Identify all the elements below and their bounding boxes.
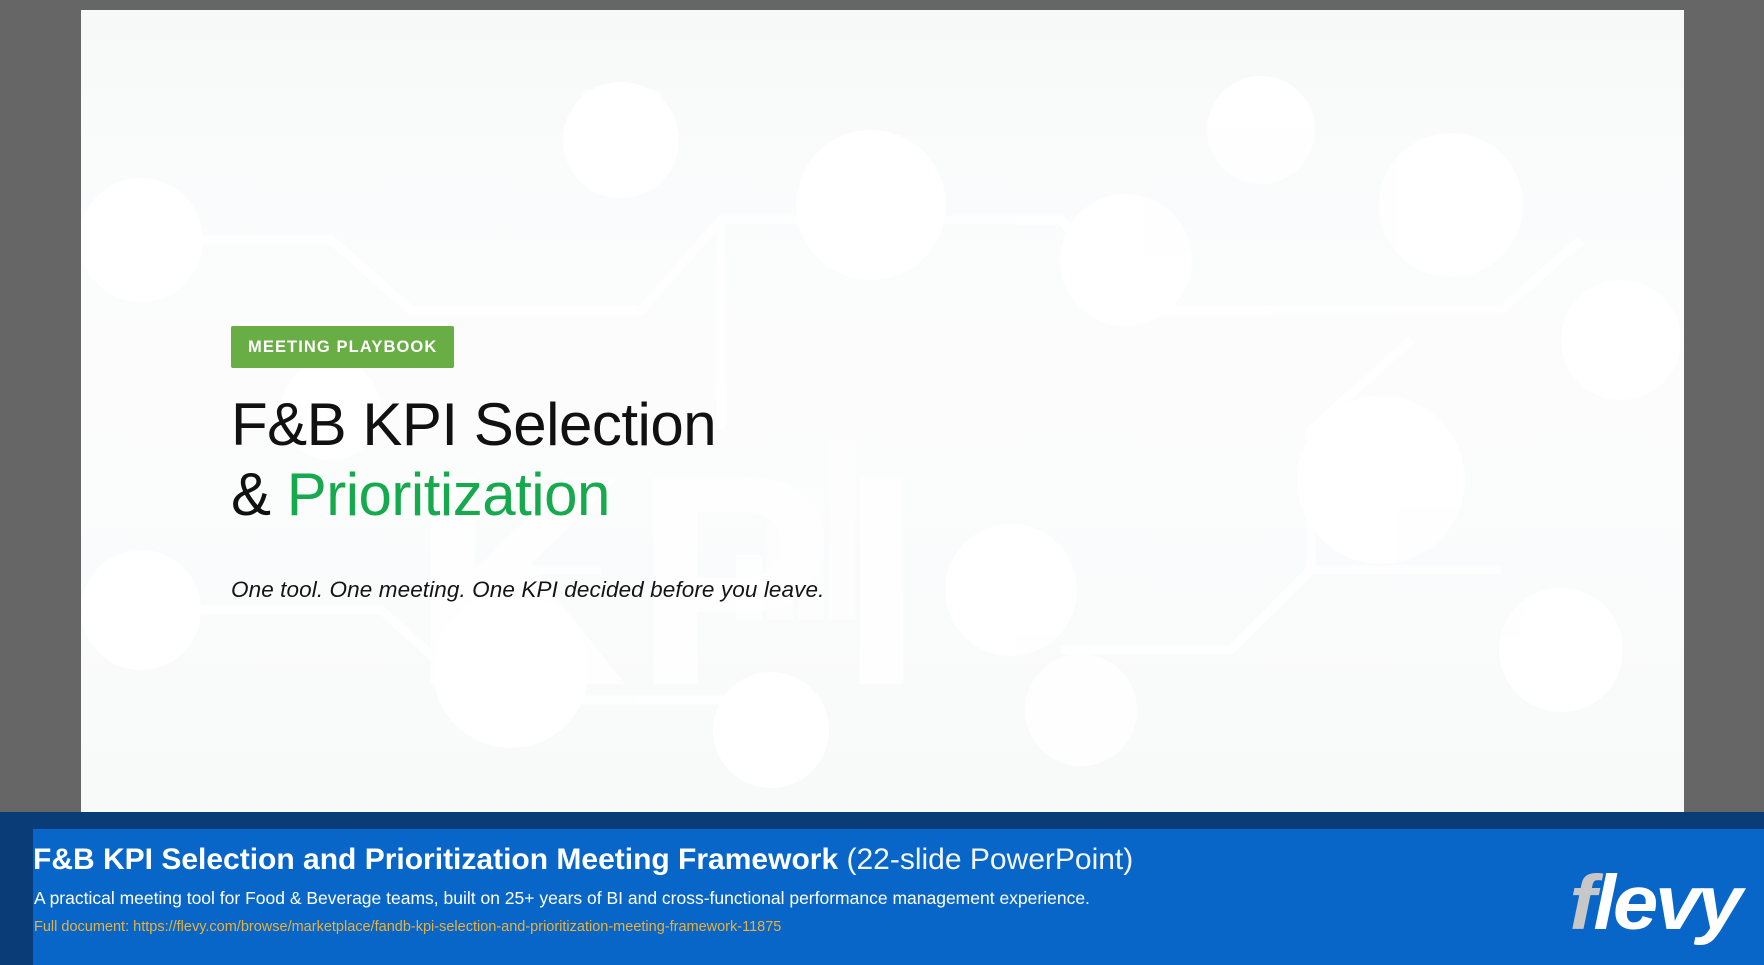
footer-title-strong: F&B KPI Selection and Prioritization Mee… <box>33 843 838 876</box>
flevy-logo-f: f <box>1570 860 1594 946</box>
slide-title-accent: Prioritization <box>287 461 610 528</box>
badge-label: MEETING PLAYBOOK <box>248 338 437 357</box>
footer-document-url[interactable]: Full document: https://flevy.com/browse/… <box>34 919 781 935</box>
slide-subtitle: One tool. One meeting. One KPI decided b… <box>231 577 824 603</box>
screenshot-root: KPI MEETING PLAYBOOK F&B KPI Selection &… <box>0 0 1764 965</box>
slide-title-ampersand: & <box>231 461 287 528</box>
slide-title: F&B KPI Selection & Prioritization <box>231 390 1331 529</box>
slide-title-line-2: & Prioritization <box>231 460 1331 530</box>
footer-document-title: F&B KPI Selection and Prioritization Mee… <box>33 843 1133 877</box>
slide-title-line-1: F&B KPI Selection <box>231 390 1331 460</box>
flevy-logo[interactable]: flevy <box>1570 865 1740 942</box>
footer-description: A practical meeting tool for Food & Beve… <box>34 888 1090 909</box>
footer-title-slide-count: (22-slide PowerPoint) <box>846 843 1133 876</box>
footer-inner-panel: F&B KPI Selection and Prioritization Mee… <box>33 829 1764 965</box>
flevy-logo-levy: levy <box>1594 860 1740 946</box>
meeting-playbook-badge: MEETING PLAYBOOK <box>231 326 454 368</box>
slide-canvas: KPI MEETING PLAYBOOK F&B KPI Selection &… <box>81 10 1684 812</box>
flevy-footer-bar: F&B KPI Selection and Prioritization Mee… <box>0 812 1764 965</box>
